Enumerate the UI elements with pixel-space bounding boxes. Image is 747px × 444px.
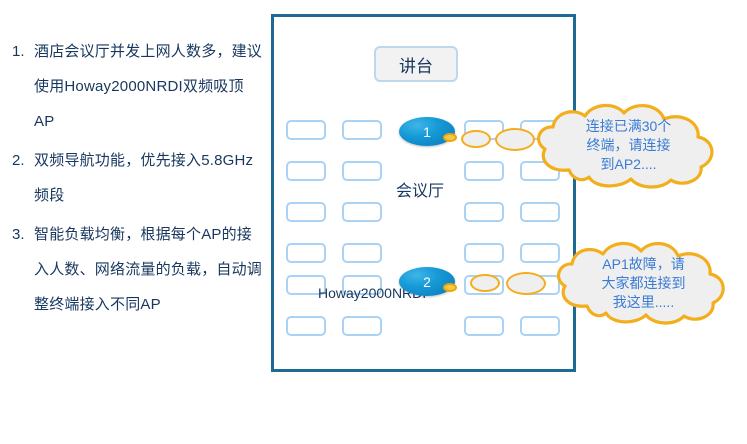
list-item-text: 双频导航功能，优先接入5.8GHz频段: [34, 143, 264, 213]
list-item: 1. 酒店会议厅并发上网人数多，建议使用Howay2000NRDI双频吸顶AP: [8, 34, 264, 139]
seat: [464, 202, 504, 222]
seat: [286, 316, 326, 336]
client-terminal: [470, 274, 500, 292]
seat: [464, 316, 504, 336]
cloud-callout-ap1-full: 连接已满30个 终端，请连接 到AP2....: [531, 100, 726, 190]
cloud-callout-ap1-fault: AP1故障，请 大家都连接到 我这里.....: [551, 238, 736, 328]
seat: [520, 202, 560, 222]
client-terminal: [461, 130, 491, 148]
list-item-number: 2.: [8, 143, 34, 178]
client-terminal: [506, 272, 546, 295]
seat: [464, 243, 504, 263]
list-item: 3. 智能负载均衡，根据每个AP的接入人数、网络流量的负载，自动调整终端接入不同…: [8, 217, 264, 322]
list-item-number: 3.: [8, 217, 34, 252]
access-point-2-label: 2: [423, 274, 431, 290]
seat: [286, 120, 326, 140]
list-item: 2. 双频导航功能，优先接入5.8GHz频段: [8, 143, 264, 213]
client-terminal: [495, 128, 535, 151]
podium-box: 讲台: [374, 46, 458, 82]
seat: [342, 202, 382, 222]
list-item-number: 1.: [8, 34, 34, 69]
seat: [286, 243, 326, 263]
seat: [342, 316, 382, 336]
access-point-2-antenna-icon: [443, 283, 457, 292]
seat: [342, 161, 382, 181]
list-item-text: 智能负载均衡，根据每个AP的接入人数、网络流量的负载，自动调整终端接入不同AP: [34, 217, 264, 322]
seat: [342, 243, 382, 263]
seat: [464, 161, 504, 181]
slide-canvas: 1. 酒店会议厅并发上网人数多，建议使用Howay2000NRDI双频吸顶AP …: [0, 0, 747, 444]
access-point-1-label: 1: [423, 124, 431, 140]
seat: [286, 202, 326, 222]
seat: [342, 120, 382, 140]
recommendation-list: 1. 酒店会议厅并发上网人数多，建议使用Howay2000NRDI双频吸顶AP …: [8, 34, 264, 326]
list-item-text: 酒店会议厅并发上网人数多，建议使用Howay2000NRDI双频吸顶AP: [34, 34, 264, 139]
access-point-1-antenna-icon: [443, 133, 457, 142]
hall-label: 会议厅: [396, 177, 444, 201]
seat: [286, 161, 326, 181]
